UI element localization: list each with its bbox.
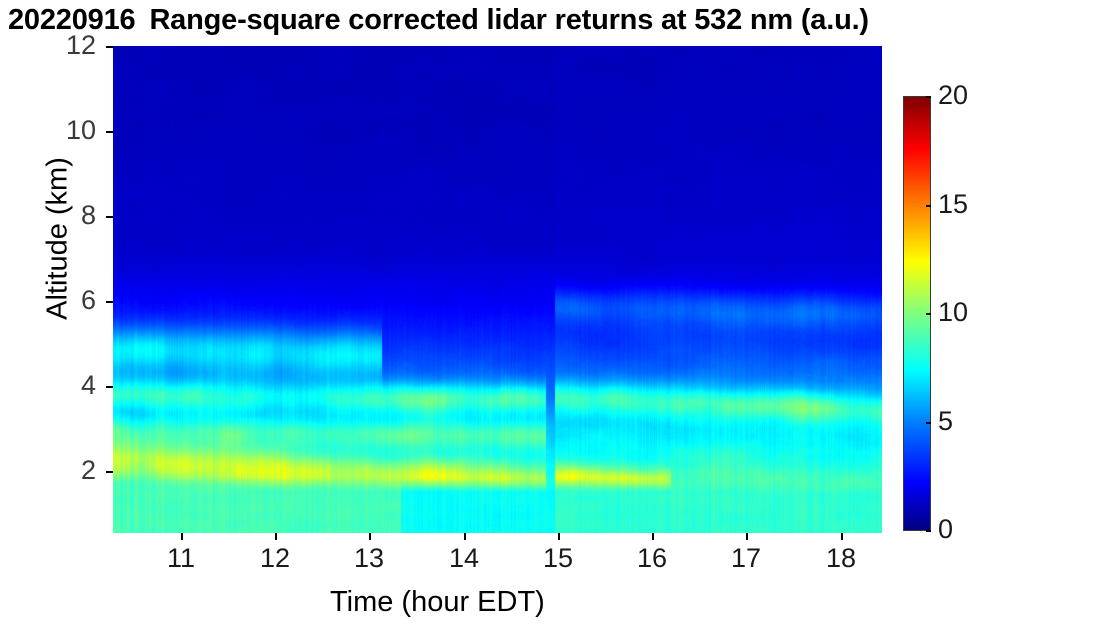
x-tick-16 [652, 533, 654, 540]
y-tick-label-2: 2 [62, 457, 96, 484]
y-tick-10 [106, 131, 113, 133]
figure-title: 20220916Range-square corrected lidar ret… [8, 4, 869, 37]
colorbar-label-5: 5 [938, 408, 953, 435]
x-tick-14 [464, 533, 466, 540]
colorbar-label-15: 15 [938, 191, 968, 218]
x-tick-18 [841, 533, 843, 540]
y-tick-label-4: 4 [62, 372, 96, 399]
colorbar-tick-5 [926, 422, 931, 424]
x-tick-label-18: 18 [811, 545, 871, 572]
colorbar-label-20: 20 [938, 82, 968, 109]
lidar-heatmap-canvas [113, 46, 882, 533]
y-tick-6 [106, 301, 113, 303]
x-tick-15 [558, 533, 560, 540]
x-tick-label-17: 17 [716, 545, 776, 572]
x-tick-11 [181, 533, 183, 540]
lidar-figure: 20220916Range-square corrected lidar ret… [0, 0, 1106, 630]
x-tick-label-13: 13 [339, 545, 399, 572]
colorbar-tick-0 [926, 530, 931, 532]
y-tick-4 [106, 386, 113, 388]
x-tick-label-12: 12 [245, 545, 305, 572]
x-tick-label-16: 16 [622, 545, 682, 572]
x-tick-label-11: 11 [151, 545, 211, 572]
x-tick-label-14: 14 [434, 545, 494, 572]
colorbar-tick-15 [926, 205, 931, 207]
y-tick-12 [106, 46, 113, 48]
figure-title-text: Range-square corrected lidar returns at … [149, 4, 868, 36]
y-axis-title: Altitude (km) [42, 124, 75, 354]
x-tick-12 [275, 533, 277, 540]
y-tick-2 [106, 471, 113, 473]
colorbar-tick-20 [926, 96, 931, 98]
y-tick-label-12: 12 [62, 32, 96, 59]
colorbar-label-10: 10 [938, 299, 968, 326]
x-tick-13 [369, 533, 371, 540]
colorbar-label-0: 0 [938, 516, 953, 543]
heatmap-plot-area [113, 46, 882, 533]
x-tick-label-15: 15 [528, 545, 588, 572]
y-tick-8 [106, 216, 113, 218]
x-tick-17 [746, 533, 748, 540]
x-axis-title: Time (hour EDT) [330, 586, 545, 619]
colorbar-tick-10 [926, 313, 931, 315]
